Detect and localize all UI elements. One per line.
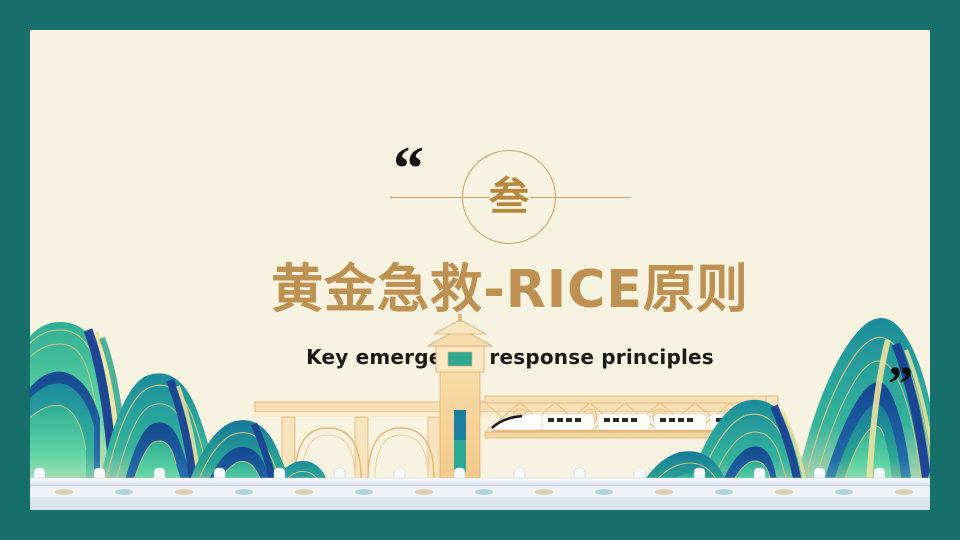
- divider-line-right: [530, 197, 630, 198]
- high-speed-train: [492, 414, 752, 432]
- quote-close-icon: ”: [888, 358, 911, 408]
- quote-open-icon: “: [393, 138, 422, 200]
- section-number-label: 叁: [489, 177, 529, 217]
- marble-balustrade: [30, 464, 930, 510]
- slide-canvas: 叁 “ 黄金急救-RICE原则 Key emergency response p…: [0, 0, 960, 540]
- content-panel: 叁 “ 黄金急救-RICE原则 Key emergency response p…: [30, 30, 930, 510]
